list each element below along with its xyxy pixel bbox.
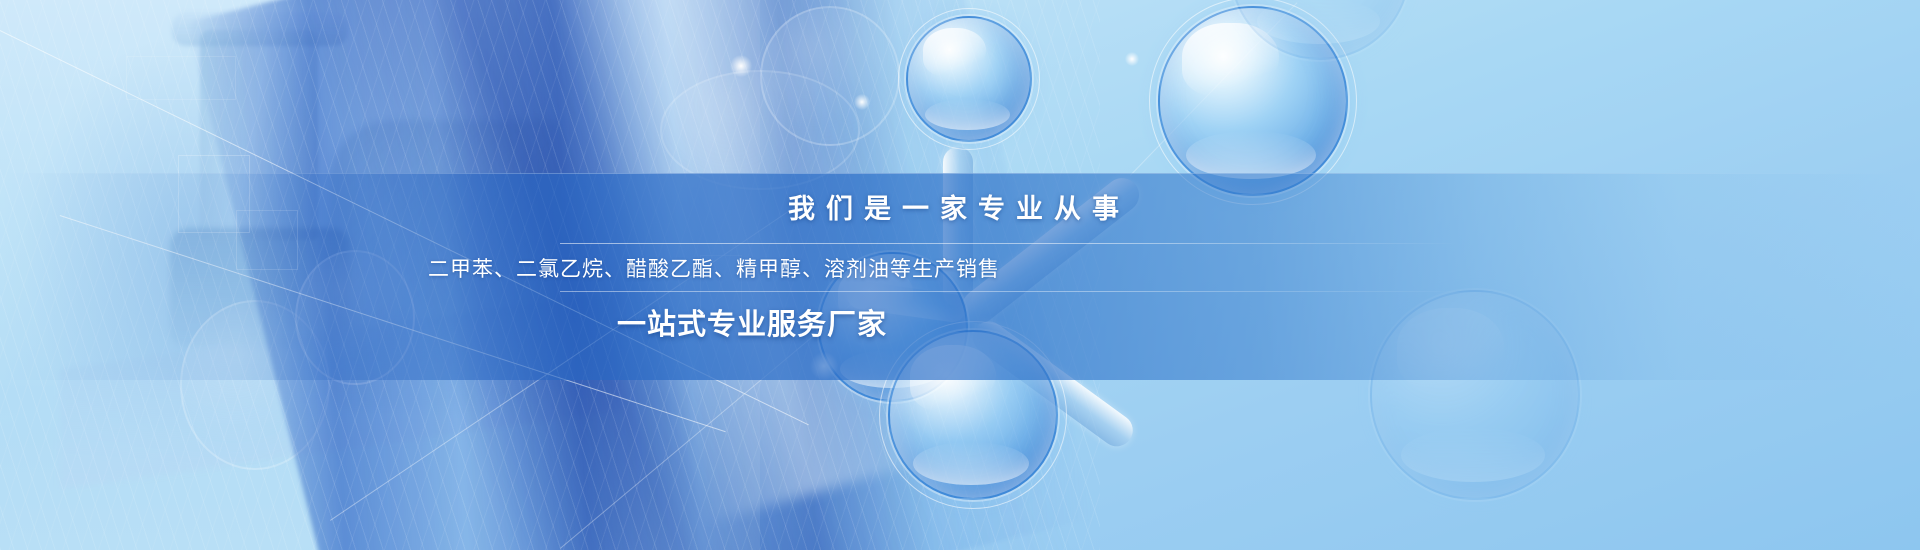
banner-copy: 我们是一家专业从事 二甲苯、二氯乙烷、醋酸乙酯、精甲醇、溶剂油等生产销售 一站式… <box>0 173 1920 380</box>
banner-headline: 我们是一家专业从事 <box>0 187 1130 226</box>
molecule-atom-ring <box>898 8 1040 150</box>
banner-tagline: 一站式专业服务厂家 <box>0 301 887 343</box>
glass-circle <box>660 70 860 190</box>
sparkle-icon <box>1125 52 1139 66</box>
decor-box <box>126 56 236 100</box>
divider-line-top <box>560 243 1460 244</box>
banner-subtitle: 二甲苯、二氯乙烷、醋酸乙酯、精甲醇、溶剂油等生产销售 <box>0 253 1000 283</box>
hero-banner: 我们是一家专业从事 二甲苯、二氯乙烷、醋酸乙酯、精甲醇、溶剂油等生产销售 一站式… <box>0 0 1920 550</box>
divider-line-bottom <box>560 291 1460 292</box>
